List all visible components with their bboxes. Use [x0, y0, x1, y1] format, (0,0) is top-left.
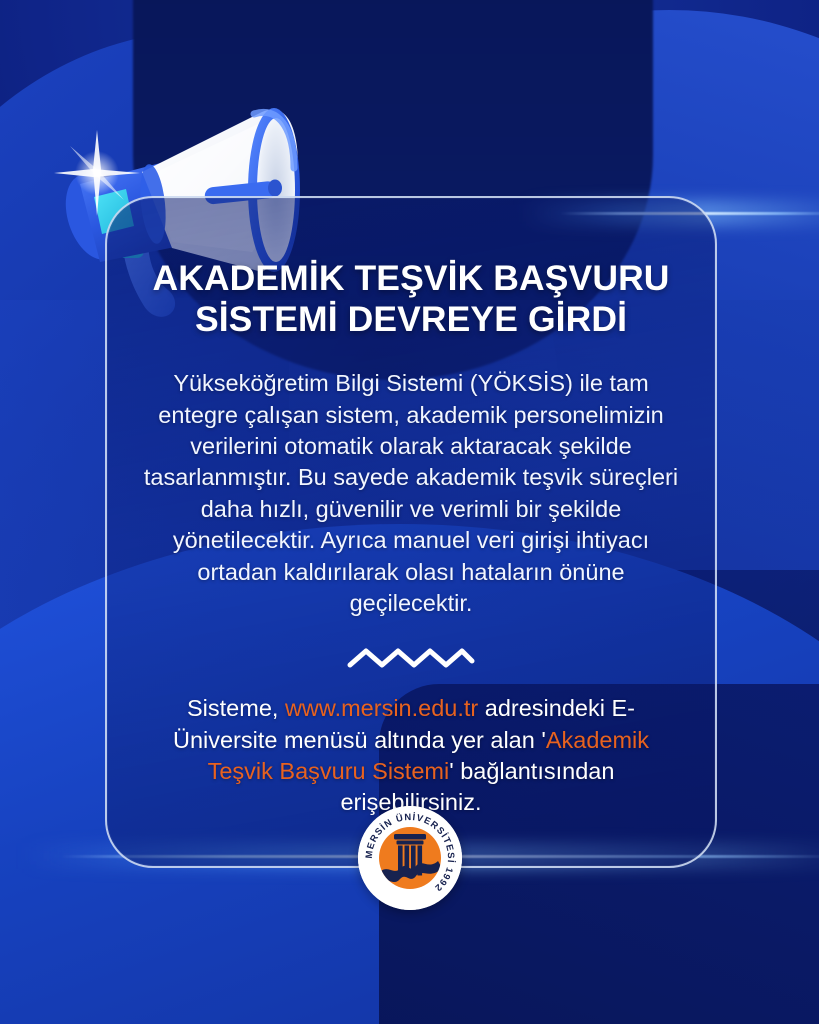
access-instructions: Sisteme, www.mersin.edu.tr adresindeki E…	[141, 693, 681, 818]
website-url[interactable]: www.mersin.edu.tr	[285, 695, 478, 721]
content-card: AKADEMİK TEŞVİK BAŞVURU SİSTEMİ DEVREYE …	[105, 196, 717, 868]
link-text-part1: Sisteme,	[187, 695, 285, 721]
body-paragraph: Yükseköğretim Bilgi Sistemi (YÖKSİS) ile…	[141, 368, 681, 619]
page-title: AKADEMİK TEŞVİK BAŞVURU SİSTEMİ DEVREYE …	[141, 258, 681, 340]
poster-canvas: AKADEMİK TEŞVİK BAŞVURU SİSTEMİ DEVREYE …	[0, 0, 819, 1024]
zigzag-divider-icon	[346, 645, 476, 671]
mersin-university-logo: MERSİN ÜNİVERSİTESİ 1992	[358, 806, 462, 910]
